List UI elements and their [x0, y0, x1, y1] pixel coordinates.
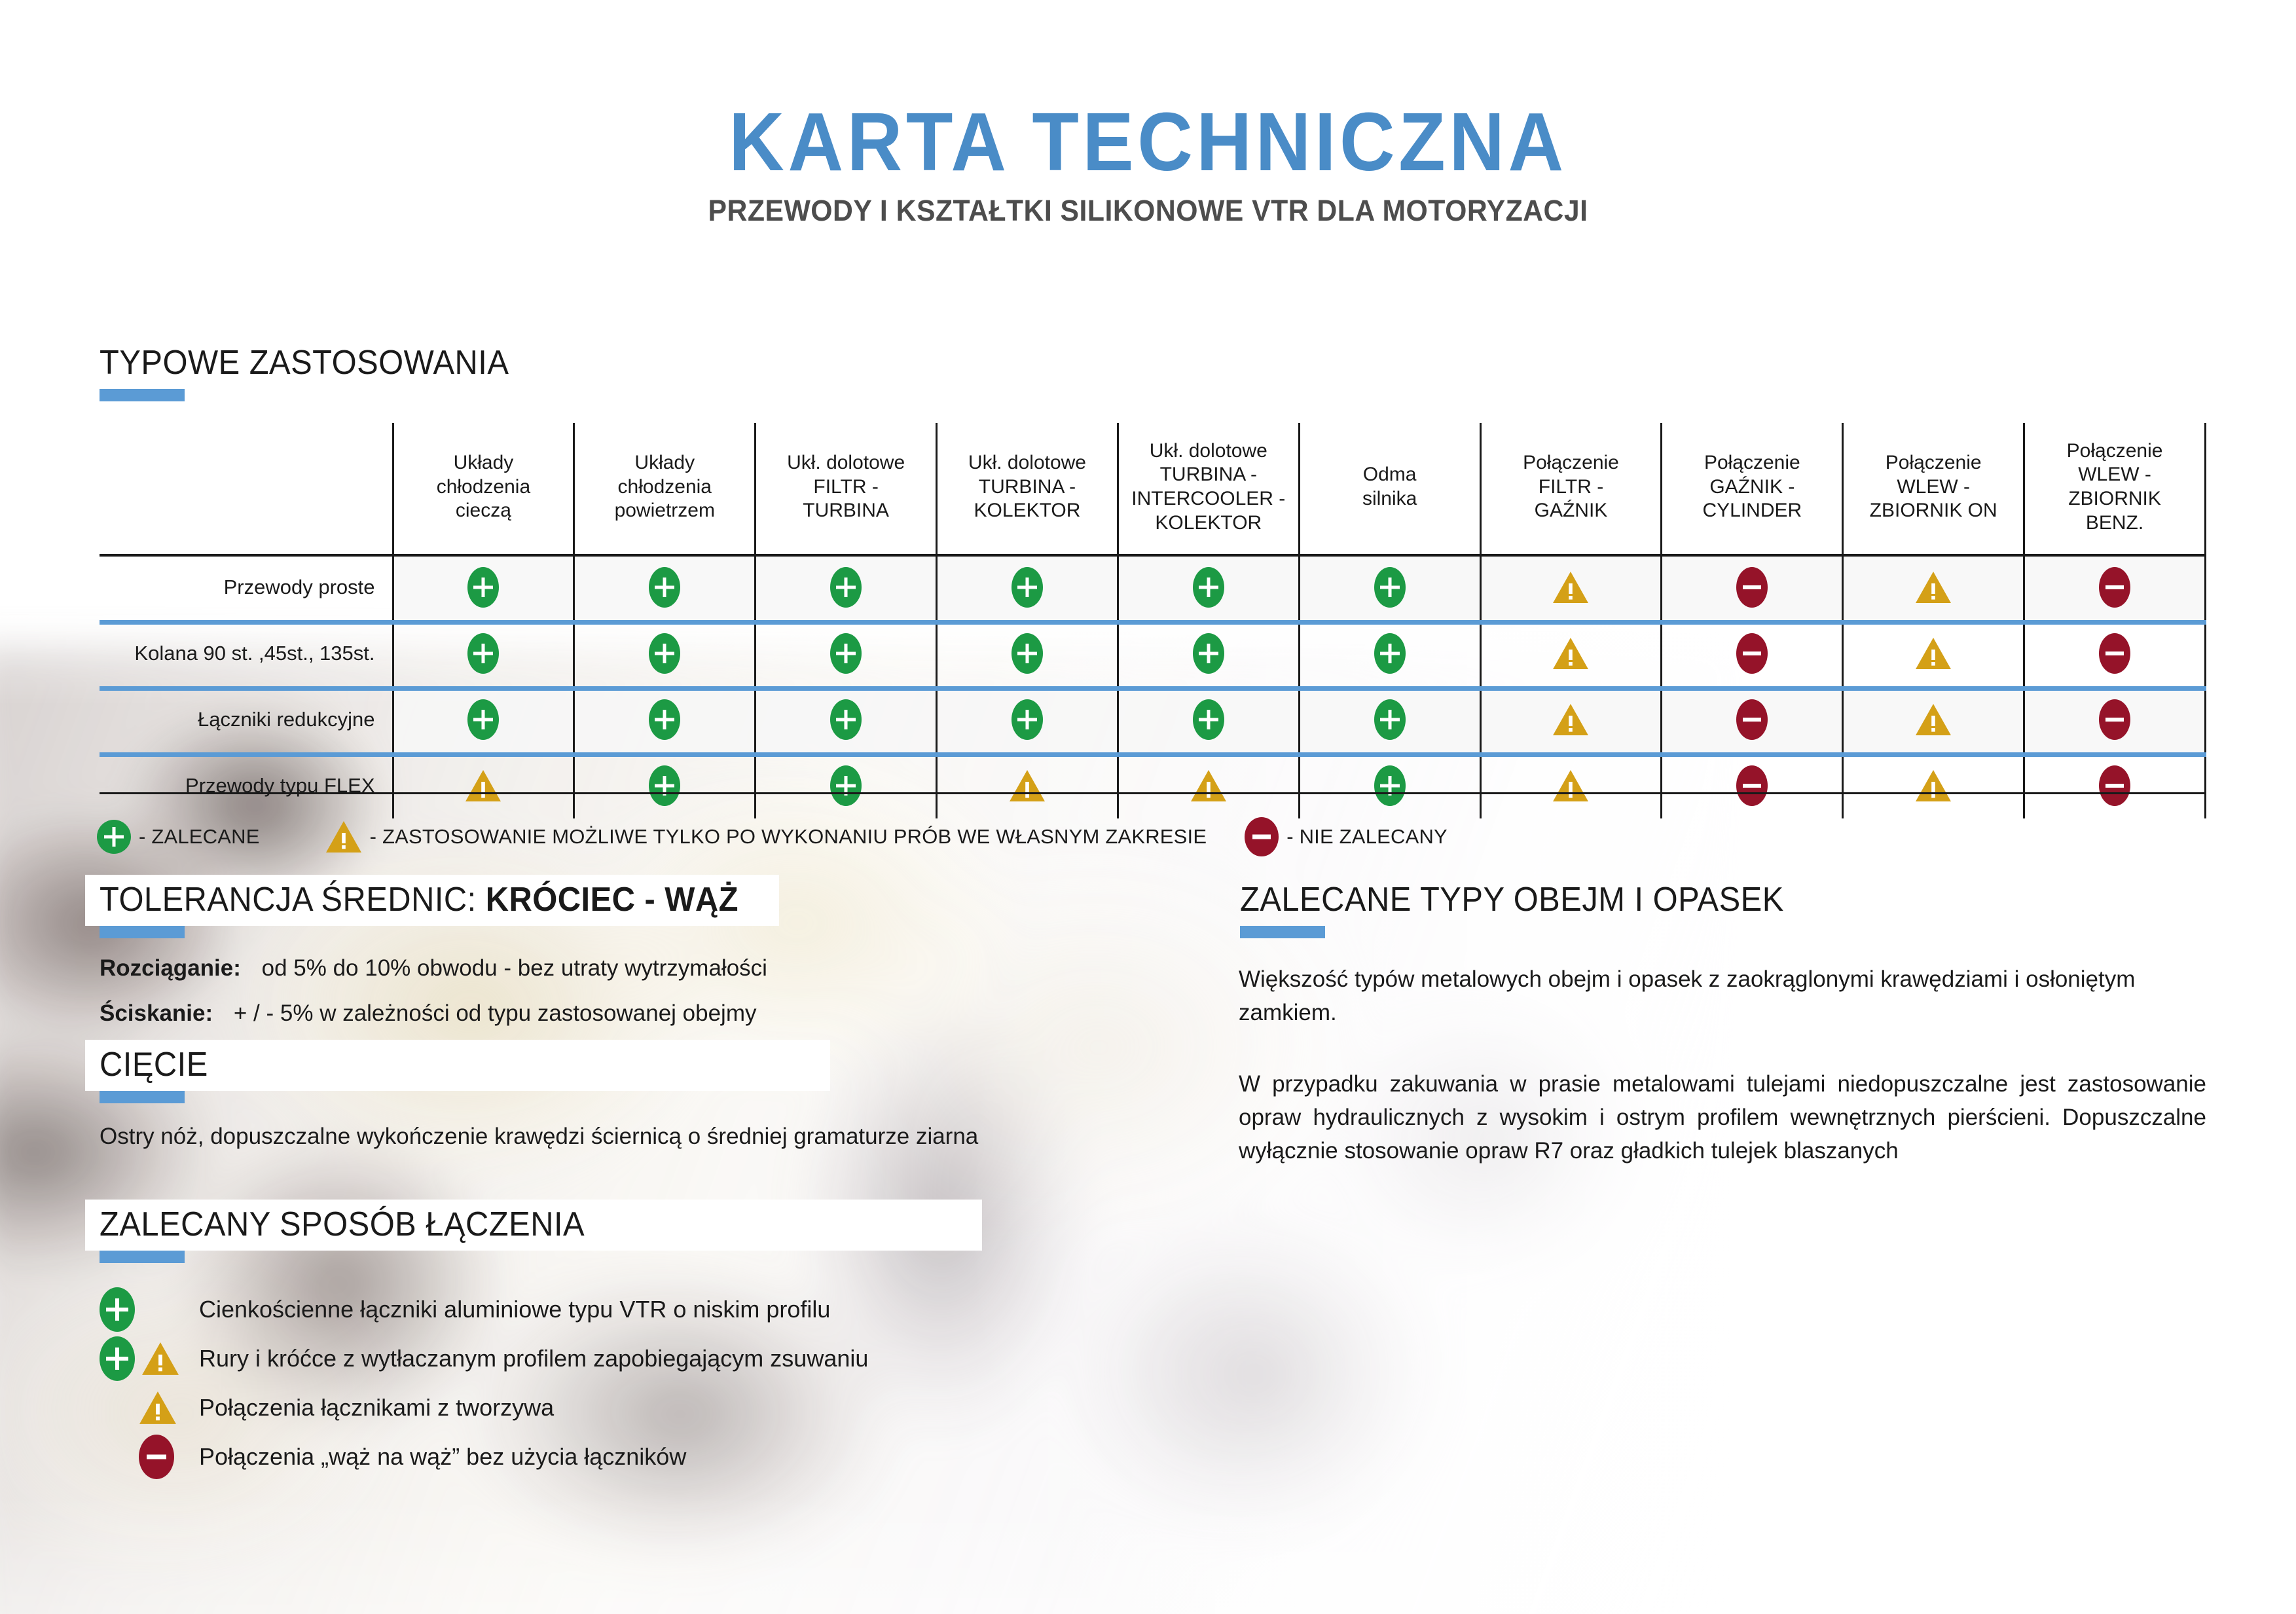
column-header-line: FILTR - [760, 475, 932, 500]
status-cell [393, 686, 574, 752]
plus-icon [100, 1287, 135, 1332]
legend-label-recommended: - ZALECANE [139, 825, 260, 849]
list-item: Rury i króćce z wytłaczanym profilem zap… [100, 1334, 868, 1383]
plus-icon [649, 765, 680, 806]
section-title-clamps: ZALECANE TYPY OBEJM I OPASEK [1240, 880, 1784, 919]
table-header-row: Układychłodzeniacieczą Układychłodzeniap… [100, 423, 2206, 554]
corner-cell [100, 423, 393, 554]
column-header-line: KOLEKTOR [941, 499, 1113, 523]
datasheet-page: KARTA TECHNICZNA PRZEWODY I KSZTAŁTKI SI… [0, 0, 2296, 1614]
tolerance-stretch-label: Rozciąganie: [100, 955, 241, 981]
status-cell [1662, 686, 1843, 752]
plus-icon [467, 699, 499, 740]
status-cell [756, 752, 937, 818]
warning-icon [1190, 769, 1227, 803]
column-header-line: Ukł. dolotowe [760, 451, 932, 475]
status-cell [1480, 554, 1662, 620]
status-cell [937, 752, 1118, 818]
row-label: Kolana 90 st. ,45st., 135st. [100, 620, 393, 686]
legend-item-not-recommended: - NIE ZALECANY [1245, 817, 1448, 856]
status-cell [937, 620, 1118, 686]
column-header-line: Ukł. dolotowe [1123, 439, 1294, 464]
plus-icon [1374, 699, 1406, 740]
minus-icon [1736, 567, 1768, 608]
column-header-7: PołączenieGAŹNIK -CYLINDER [1662, 423, 1843, 554]
heading-accent-rule [1240, 926, 1325, 938]
column-header-line: Odma [1304, 463, 1476, 487]
column-header-line: ZBIORNIK [2029, 487, 2200, 511]
row-label: Łączniki redukcyjne [100, 686, 393, 752]
clamps-paragraph-2: W przypadku zakuwania w prasie metalowam… [1239, 1067, 2206, 1167]
tolerance-compress-value: + / - 5% w zależności od typu zastosowan… [234, 1000, 757, 1026]
plus-icon [649, 699, 680, 740]
column-header-line: chłodzenia [579, 475, 750, 500]
status-cell [1662, 554, 1843, 620]
status-cell [574, 686, 756, 752]
page-header: KARTA TECHNICZNA PRZEWODY I KSZTAŁTKI SI… [0, 98, 2296, 228]
column-header-line: Połączenie [2029, 439, 2200, 464]
plus-icon [830, 567, 862, 608]
matrix-rule-bottom [100, 792, 2206, 794]
status-cell [393, 620, 574, 686]
page-title: KARTA TECHNICZNA [81, 98, 2216, 186]
column-header-line: FILTR - [1485, 475, 1657, 500]
status-cell [2024, 752, 2206, 818]
column-header-line: Ukł. dolotowe [941, 451, 1113, 475]
status-cell [1843, 554, 2024, 620]
section-heading-clamps: ZALECANE TYPY OBEJM I OPASEK [1226, 875, 1819, 938]
warning-icon [1552, 769, 1589, 803]
plus-icon [100, 1336, 135, 1381]
column-header-line: Połączenie [1666, 451, 1838, 475]
column-header-0: Układychłodzeniacieczą [393, 423, 574, 554]
minus-icon [2099, 765, 2130, 806]
list-item-label: Cienkościenne łączniki aluminiowe typu V… [199, 1296, 830, 1323]
matrix-legend: - ZALECANE - ZASTOSOWANIE MOŻLIWE TYLKO … [97, 817, 1448, 856]
minus-icon [1736, 633, 1768, 674]
status-cell [2024, 686, 2206, 752]
status-cell [1480, 752, 1662, 818]
status-cell [1118, 752, 1299, 818]
list-item-label: Połączenia łącznikami z tworzywa [199, 1394, 554, 1421]
table-row: Przewody typu FLEX [100, 752, 2206, 818]
status-cell [756, 620, 937, 686]
column-header-2: Ukł. dolotoweFILTR -TURBINA [756, 423, 937, 554]
table-row: Kolana 90 st. ,45st., 135st. [100, 620, 2206, 686]
list-item: Połączenia „wąż na wąż” bez użycia łączn… [100, 1432, 868, 1481]
warning-icon [1915, 769, 1952, 803]
column-header-5: Odmasilnika [1299, 423, 1480, 554]
section-title-applications: TYPOWE ZASTOSOWANIA [100, 343, 509, 382]
minus-icon [139, 1435, 174, 1479]
plus-icon [830, 699, 862, 740]
heading-band: TOLERANCJA ŚREDNIC: KRÓCIEC - WĄŻ [85, 875, 779, 926]
status-cell [1480, 620, 1662, 686]
list-item-icons [100, 1336, 199, 1381]
table-head: Układychłodzeniacieczą Układychłodzeniap… [100, 423, 2206, 554]
section-heading-tolerance: TOLERANCJA ŚREDNIC: KRÓCIEC - WĄŻ [85, 875, 779, 938]
column-header-line: WLEW - [2029, 463, 2200, 487]
list-item-label: Rury i króćce z wytłaczanym profilem zap… [199, 1345, 868, 1372]
section-heading-cutting: CIĘCIE [85, 1040, 830, 1103]
warning-icon [1009, 769, 1046, 803]
warning-icon [1915, 636, 1952, 670]
cutting-text: Ostry nóż, dopuszczalne wykończenie kraw… [100, 1120, 1127, 1153]
status-cell [937, 554, 1118, 620]
warning-icon [1552, 636, 1589, 670]
minus-icon [1736, 765, 1768, 806]
minus-icon [2099, 567, 2130, 608]
status-cell [1299, 752, 1480, 818]
plus-icon [830, 633, 862, 674]
list-item: Połączenia łącznikami z tworzywa [100, 1383, 868, 1432]
legend-item-conditional: - ZASTOSOWANIE MOŻLIWE TYLKO PO WYKONANI… [325, 820, 1207, 854]
plus-icon [97, 820, 131, 854]
heading-accent-rule [100, 1251, 185, 1263]
column-header-line: ZBIORNIK ON [1848, 499, 2019, 523]
plus-icon [1193, 699, 1224, 740]
plus-icon [1011, 633, 1043, 674]
tolerance-compress-row: Ściskanie: + / - 5% w zależności od typu… [100, 997, 756, 1031]
column-header-line: Połączenie [1848, 451, 2019, 475]
matrix-rule-1 [100, 620, 2206, 625]
minus-icon [1245, 817, 1279, 856]
status-cell [1118, 554, 1299, 620]
column-header-line: TURBINA - [1123, 463, 1294, 487]
plus-icon [1374, 567, 1406, 608]
warning-icon [139, 1390, 177, 1425]
clamps-paragraph-1: Większość typów metalowych obejm i opase… [1239, 963, 2214, 1029]
column-header-9: PołączenieWLEW -ZBIORNIKBENZ. [2024, 423, 2206, 554]
column-header-1: Układychłodzeniapowietrzem [574, 423, 756, 554]
plus-icon [1374, 633, 1406, 674]
heading-band: ZALECANY SPOSÓB ŁĄCZENIA [85, 1200, 982, 1251]
joining-methods-list: Cienkościenne łączniki aluminiowe typu V… [100, 1285, 868, 1481]
warning-icon [1915, 570, 1952, 604]
status-cell [2024, 620, 2206, 686]
warning-icon [141, 1341, 179, 1376]
status-cell [756, 686, 937, 752]
column-header-3: Ukł. dolotoweTURBINA -KOLEKTOR [937, 423, 1118, 554]
status-cell [574, 620, 756, 686]
plus-icon [649, 567, 680, 608]
heading-band: TYPOWE ZASTOSOWANIA [85, 338, 535, 389]
legend-item-recommended: - ZALECANE [97, 820, 260, 854]
status-cell [1118, 686, 1299, 752]
table-row: Przewody proste [100, 554, 2206, 620]
status-cell [1299, 686, 1480, 752]
column-header-line: silnika [1304, 487, 1476, 511]
row-label: Przewody typu FLEX [100, 752, 393, 818]
plus-icon [830, 765, 862, 806]
status-cell [574, 554, 756, 620]
section-heading-applications: TYPOWE ZASTOSOWANIA [85, 338, 535, 401]
row-label: Przewody proste [100, 554, 393, 620]
page-subtitle: PRZEWODY I KSZTAŁTKI SILIKONOWE VTR DLA … [58, 194, 2239, 228]
table-row: Łączniki redukcyjne [100, 686, 2206, 752]
column-header-line: GAŹNIK [1485, 499, 1657, 523]
status-cell [1299, 620, 1480, 686]
section-heading-joining: ZALECANY SPOSÓB ŁĄCZENIA [85, 1200, 982, 1263]
warning-icon [325, 820, 362, 854]
list-item-icons [100, 1435, 199, 1479]
plus-icon [1193, 567, 1224, 608]
column-header-8: PołączenieWLEW -ZBIORNIK ON [1843, 423, 2024, 554]
column-header-line: powietrzem [579, 499, 750, 523]
minus-icon [2099, 699, 2130, 740]
minus-icon [1736, 699, 1768, 740]
heading-accent-rule [100, 926, 185, 938]
column-header-6: PołączenieFILTR -GAŹNIK [1480, 423, 1662, 554]
column-header-line: TURBINA [760, 499, 932, 523]
legend-label-not-recommended: - NIE ZALECANY [1286, 825, 1448, 849]
status-cell [1843, 752, 2024, 818]
section-title-tolerance: TOLERANCJA ŚREDNIC: KRÓCIEC - WĄŻ [100, 880, 738, 919]
section-title-joining: ZALECANY SPOSÓB ŁĄCZENIA [100, 1205, 585, 1244]
plus-icon [1011, 567, 1043, 608]
status-cell [1662, 620, 1843, 686]
list-item: Cienkościenne łączniki aluminiowe typu V… [100, 1285, 868, 1334]
status-cell [1843, 686, 2024, 752]
heading-band: ZALECANE TYPY OBEJM I OPASEK [1226, 875, 1819, 926]
tolerance-stretch-value: od 5% do 10% obwodu - bez utraty wytrzym… [262, 955, 767, 981]
status-cell [1843, 620, 2024, 686]
plus-icon [649, 633, 680, 674]
list-item-icons [100, 1287, 199, 1332]
tolerance-stretch-row: Rozciąganie: od 5% do 10% obwodu - bez u… [100, 951, 767, 986]
plus-icon [467, 567, 499, 608]
section-title-cutting: CIĘCIE [100, 1045, 208, 1084]
plus-icon [1011, 699, 1043, 740]
minus-icon [2099, 633, 2130, 674]
status-cell [393, 752, 574, 818]
column-header-line: Układy [398, 451, 570, 475]
column-header-line: KOLEKTOR [1123, 511, 1294, 536]
column-header-line: TURBINA - [941, 475, 1113, 500]
heading-accent-rule [100, 1091, 185, 1103]
list-item-label: Połączenia „wąż na wąż” bez użycia łączn… [199, 1443, 686, 1471]
status-cell [1480, 686, 1662, 752]
status-cell [1118, 620, 1299, 686]
heading-band: CIĘCIE [85, 1040, 830, 1091]
warning-icon [1915, 703, 1952, 737]
column-header-line: chłodzenia [398, 475, 570, 500]
status-cell [756, 554, 937, 620]
column-header-line: BENZ. [2029, 511, 2200, 536]
matrix-rule-top [100, 554, 2206, 557]
column-header-line: Połączenie [1485, 451, 1657, 475]
plus-icon [1374, 765, 1406, 806]
column-header-line: Układy [579, 451, 750, 475]
legend-label-conditional: - ZASTOSOWANIE MOŻLIWE TYLKO PO WYKONANI… [370, 825, 1207, 849]
column-header-4: Ukł. dolotoweTURBINA -INTERCOOLER -KOLEK… [1118, 423, 1299, 554]
column-header-line: GAŹNIK - [1666, 475, 1838, 500]
plus-icon [1193, 633, 1224, 674]
tolerance-compress-label: Ściskanie: [100, 1000, 213, 1026]
status-cell [1299, 554, 1480, 620]
plus-icon [467, 633, 499, 674]
warning-icon [1552, 703, 1589, 737]
matrix-rule-3 [100, 752, 2206, 757]
column-header-line: WLEW - [1848, 475, 2019, 500]
status-cell [393, 554, 574, 620]
column-header-line: CYLINDER [1666, 499, 1838, 523]
list-item-icons [100, 1390, 199, 1425]
status-cell [2024, 554, 2206, 620]
warning-icon [465, 769, 501, 803]
column-header-line: INTERCOOLER - [1123, 487, 1294, 511]
status-cell [937, 686, 1118, 752]
heading-accent-rule [100, 389, 185, 401]
status-cell [574, 752, 756, 818]
column-header-line: cieczą [398, 499, 570, 523]
matrix-rule-2 [100, 686, 2206, 691]
status-cell [1662, 752, 1843, 818]
warning-icon [1552, 570, 1589, 604]
